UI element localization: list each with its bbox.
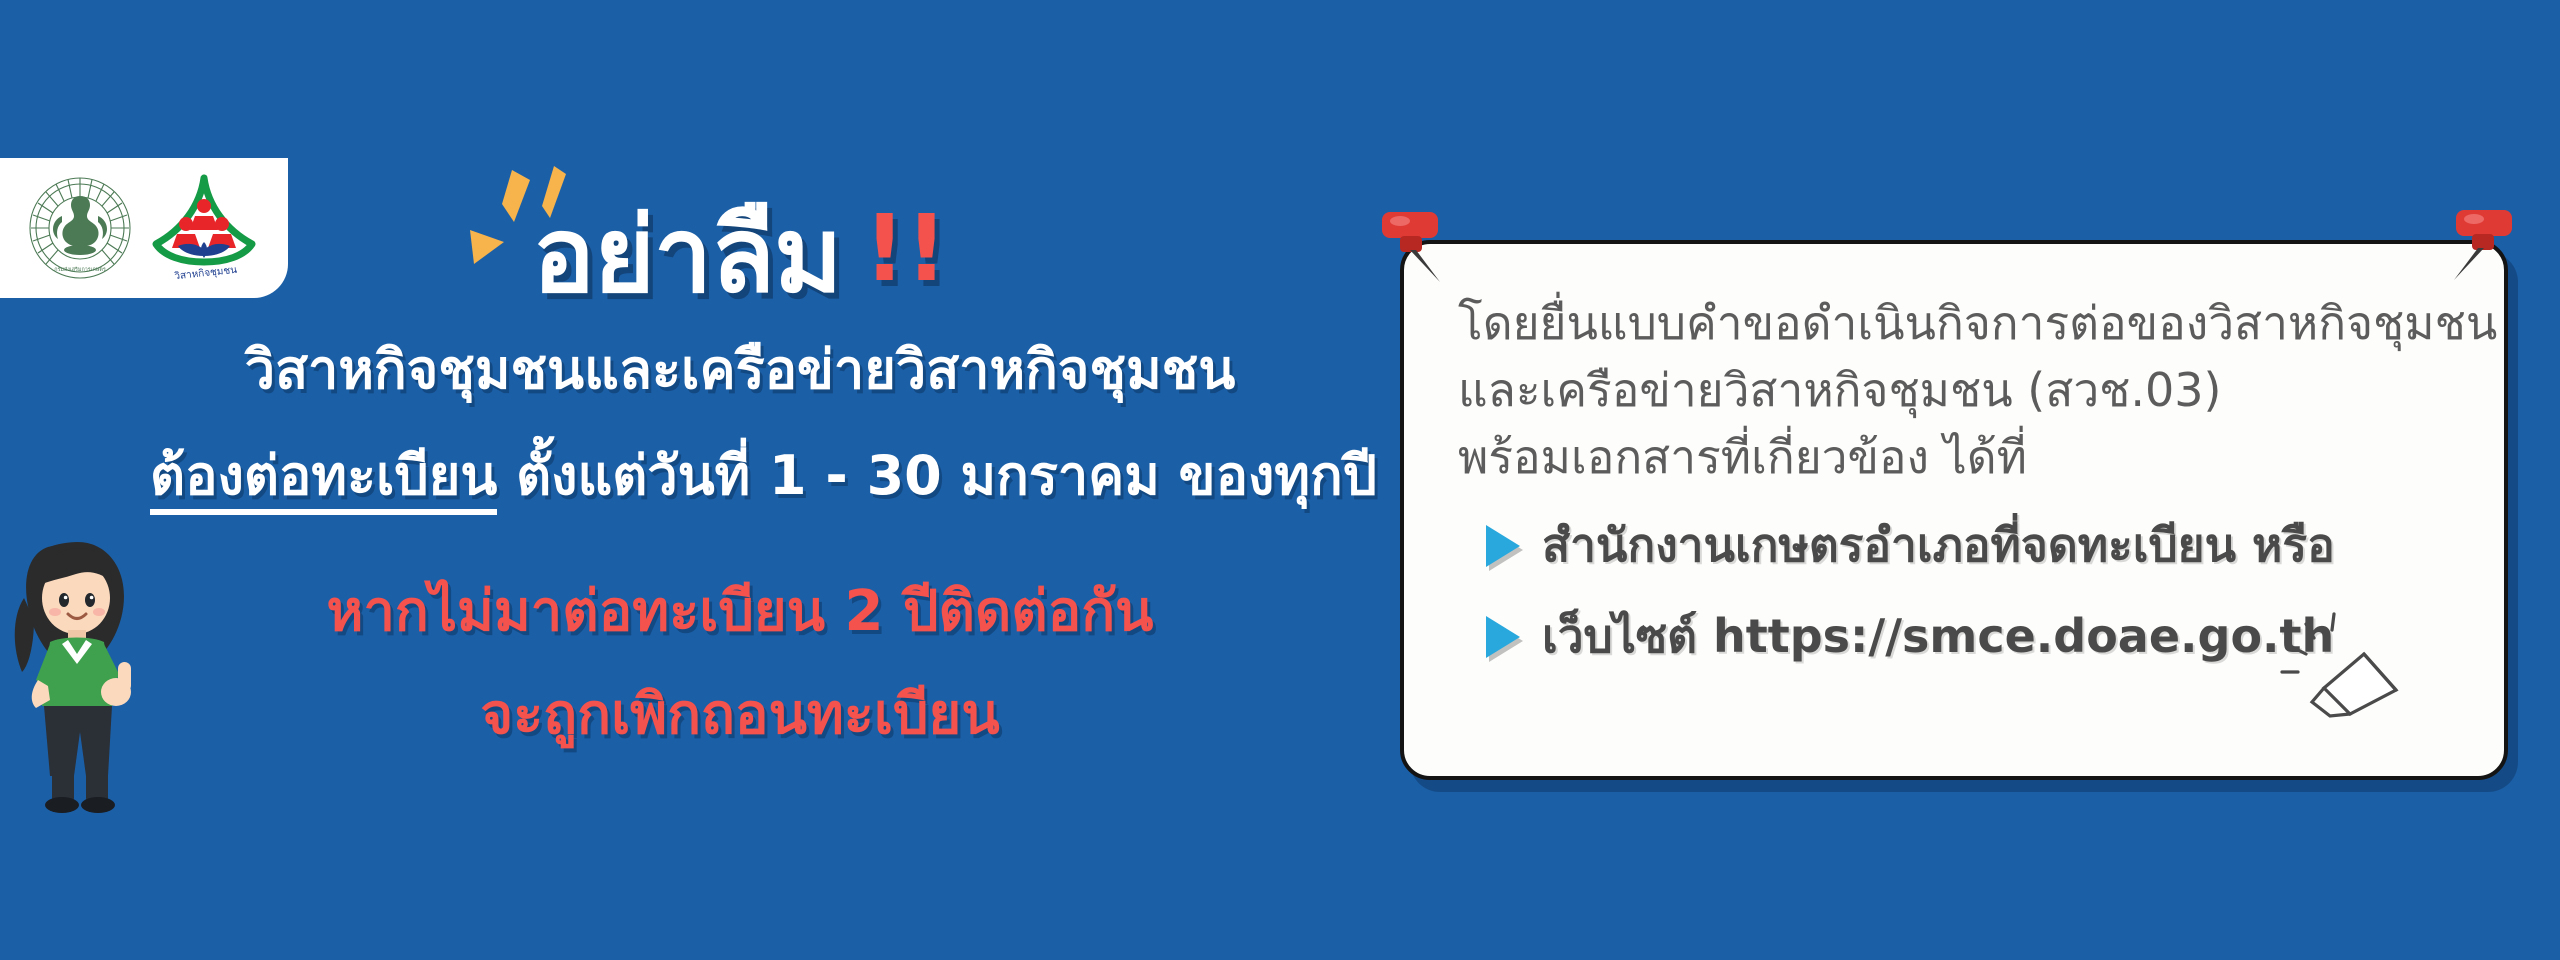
svg-text:กรมส่งเสริมการเกษตร: กรมส่งเสริมการเกษตร — [54, 266, 106, 273]
left-copy-block: อย่าลืม !! วิสาหกิจชุมชนและเครือข่ายวิสา… — [150, 180, 1330, 758]
bullet-office-label: สำนักงานเกษตรอำเภอที่จดทะเบียน หรือ — [1542, 509, 2335, 582]
card-line-2: และเครือข่ายวิสาหกิจชุมชน (สวช.03) — [1458, 357, 2460, 424]
megaphone-icon — [2280, 610, 2420, 730]
subtitle-line-2: ต้องต่อทะเบียน ตั้งแต่วันที่ 1 - 30 มกรา… — [150, 432, 1330, 518]
bullet-website-label[interactable]: เว็บไซต์ https://smce.doae.go.th — [1542, 600, 2334, 673]
pushpin-icon — [1376, 208, 1450, 284]
triangle-bullet-icon — [1486, 525, 1520, 567]
card-line-1: โดยยื่นแบบคำขอดำเนินกิจการต่อของวิสาหกิจ… — [1458, 290, 2460, 357]
must-renew-emphasis: ต้องต่อทะเบียน — [150, 444, 497, 515]
renew-period-text: ตั้งแต่วันที่ 1 - 30 มกราคม ของทุกปี — [497, 444, 1377, 507]
headline-row: อย่าลืม !! — [150, 180, 1330, 308]
announcement-banner: กรมส่งเสริมการเกษตร — [0, 0, 2560, 960]
warning-line-2: จะถูกเพิกถอนทะเบียน — [150, 669, 1330, 758]
warning-line-1: หากไม่มาต่อทะเบียน 2 ปีติดต่อกัน — [150, 566, 1330, 655]
mascot-figure — [8, 520, 168, 820]
card-line-3: พร้อมเอกสารที่เกี่ยวข้อง ได้ที่ — [1458, 424, 2460, 491]
headline-exclamation: !! — [864, 195, 948, 302]
triangle-bullet-icon — [1486, 616, 1520, 658]
garuda-emblem-icon: กรมส่งเสริมการเกษตร — [28, 176, 132, 280]
subtitle-line-1: วิสาหกิจชุมชนและเครือข่ายวิสาหกิจชุมชน — [150, 326, 1330, 412]
sparkle-icon — [468, 164, 588, 274]
pushpin-icon — [2444, 206, 2518, 282]
bullet-item-office: สำนักงานเกษตรอำเภอที่จดทะเบียน หรือ — [1458, 509, 2460, 582]
